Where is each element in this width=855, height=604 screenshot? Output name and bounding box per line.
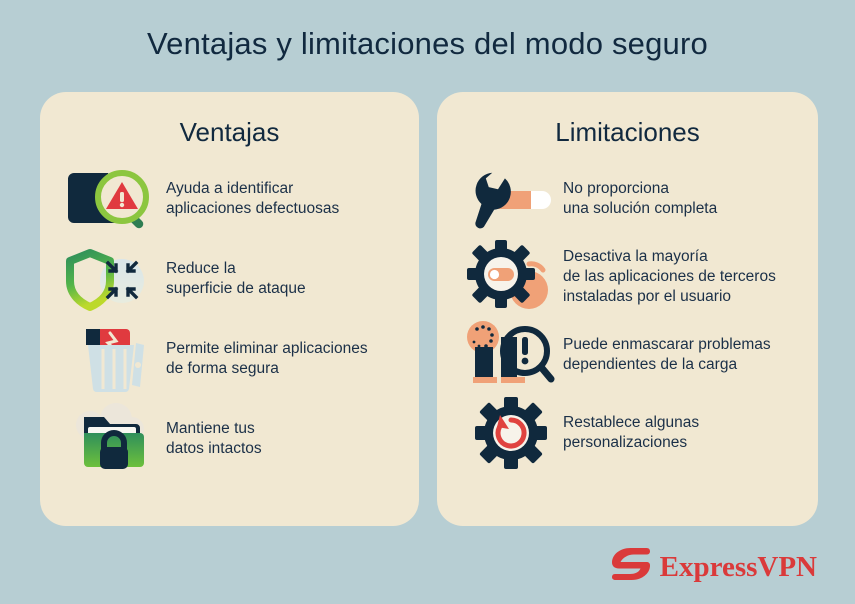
panel-heading-ventajas: Ventajas <box>40 116 419 148</box>
gear-toggle-bomb-icon <box>459 240 563 314</box>
list-item-text: Ayuda a identificar aplicaciones defectu… <box>166 179 339 219</box>
trash-bin-apps-icon <box>62 322 166 396</box>
list-item-text: Reduce la superficie de ataque <box>166 259 306 299</box>
list-item: No proporciona una solución completa <box>459 160 804 238</box>
list-item-text: Restablece algunas personalizaciones <box>563 413 699 453</box>
locked-folder-cloud-icon <box>62 402 166 476</box>
expressvpn-wordmark: ExpressVPN <box>660 552 817 582</box>
list-item-text: Puede enmascarar problemas dependientes … <box>563 335 771 375</box>
broken-box-magnifier-warning-icon <box>62 162 166 236</box>
panel-ventajas: Ventajas Ayuda a ide <box>40 92 419 526</box>
list-item: Puede enmascarar problemas dependientes … <box>459 316 804 394</box>
limitaciones-item-list: No proporciona una solución completa <box>437 160 818 472</box>
list-item: Mantiene tus datos intactos <box>62 400 405 478</box>
expressvpn-logo: ExpressVPN <box>611 547 817 586</box>
expressvpn-e-mark <box>611 547 651 586</box>
list-item-text: No proporciona una solución completa <box>563 179 717 219</box>
page-title: Ventajas y limitaciones del modo seguro <box>0 24 855 64</box>
gear-reset-icon <box>459 396 563 470</box>
panel-heading-limitaciones: Limitaciones <box>437 116 818 148</box>
list-item-text: Mantiene tus datos intactos <box>166 419 262 459</box>
wrench-progress-bar-icon <box>459 162 563 236</box>
infographic-canvas: Ventajas y limitaciones del modo seguro … <box>0 0 855 604</box>
panels-container: Ventajas Ayuda a ide <box>40 92 818 526</box>
list-item: Reduce la superficie de ataque <box>62 240 405 318</box>
list-item-text: Desactiva la mayoría de las aplicaciones… <box>563 247 776 307</box>
shield-shrink-arrows-icon <box>62 242 166 316</box>
bar-chart-magnifier-alert-icon <box>459 318 563 392</box>
list-item-text: Permite eliminar aplicaciones de forma s… <box>166 339 368 379</box>
list-item: Ayuda a identificar aplicaciones defectu… <box>62 160 405 238</box>
ventajas-item-list: Ayuda a identificar aplicaciones defectu… <box>40 160 419 478</box>
panel-limitaciones: Limitaciones No proporciona una solución… <box>437 92 818 526</box>
list-item: Restablece algunas personalizaciones <box>459 394 804 472</box>
list-item: Permite eliminar aplicaciones de forma s… <box>62 320 405 398</box>
list-item: Desactiva la mayoría de las aplicaciones… <box>459 238 804 316</box>
